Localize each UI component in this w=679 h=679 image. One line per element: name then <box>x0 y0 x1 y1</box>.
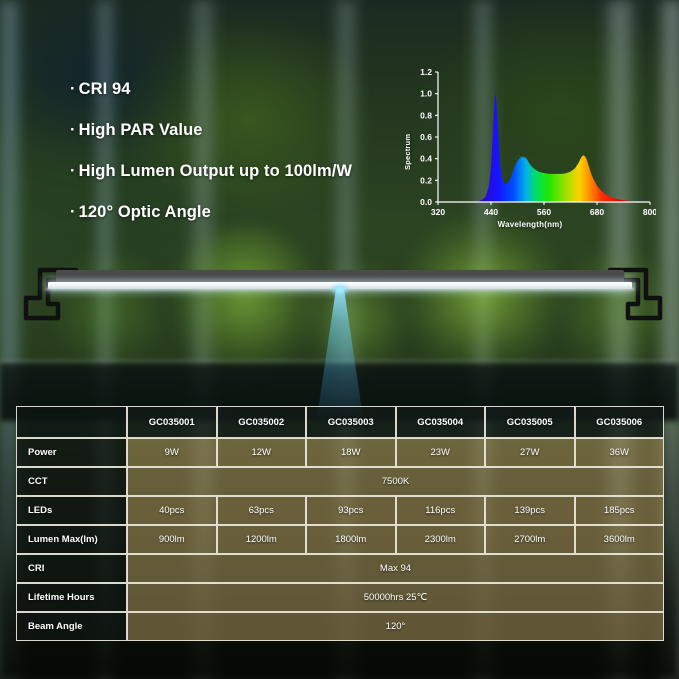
table-row-label: Beam Angle <box>16 612 127 641</box>
svg-text:0.8: 0.8 <box>420 110 432 120</box>
table-header-cell: GC035003 <box>306 406 396 438</box>
specification-table: GC035001GC035002GC035003GC035004GC035005… <box>16 406 664 641</box>
table-cell: 63pcs <box>217 496 307 525</box>
feature-item: ·CRI 94 <box>70 80 400 99</box>
table-header-corner <box>16 406 127 438</box>
table-row-label: CCT <box>16 467 127 496</box>
table-row-label: Lumen Max(lm) <box>16 525 127 554</box>
table-header-cell: GC035005 <box>485 406 575 438</box>
table-cell-merged: 120° <box>127 612 664 641</box>
table-row: CRIMax 94 <box>16 554 664 583</box>
svg-text:800: 800 <box>643 207 656 217</box>
svg-text:560: 560 <box>537 207 551 217</box>
table-row: Lifetime Hours50000hrs 25℃ <box>16 583 664 612</box>
table-row: CCT7500K <box>16 467 664 496</box>
table-cell-merged: 7500K <box>127 467 664 496</box>
table-header-cell: GC035002 <box>217 406 307 438</box>
table-cell: 2300lm <box>396 525 486 554</box>
feature-item: ·High PAR Value <box>70 121 400 140</box>
table-row-label: LEDs <box>16 496 127 525</box>
table-cell-merged: Max 94 <box>127 554 664 583</box>
table-row: Power9W12W18W23W27W36W <box>16 438 664 467</box>
table-cell: 3600lm <box>575 525 665 554</box>
table-cell: 2700lm <box>485 525 575 554</box>
table-cell-merged: 50000hrs 25℃ <box>127 583 664 612</box>
bullet-icon: · <box>70 203 76 221</box>
svg-text:320: 320 <box>431 207 445 217</box>
chart-x-axis-label: Wavelength(nm) <box>404 220 656 229</box>
svg-text:680: 680 <box>590 207 604 217</box>
product-infographic: ·CRI 94 ·High PAR Value ·High Lumen Outp… <box>0 0 679 679</box>
led-grow-light-fixture <box>0 246 679 356</box>
chart-canvas: 0.00.20.40.60.81.01.2320440560680800 <box>404 62 656 222</box>
feature-label: High Lumen Output up to 100lm/W <box>79 162 353 180</box>
table-cell: 12W <box>217 438 307 467</box>
table-cell: 900lm <box>127 525 217 554</box>
svg-text:1.0: 1.0 <box>420 89 432 99</box>
table-cell: 36W <box>575 438 665 467</box>
bullet-icon: · <box>70 121 76 139</box>
table-header-cell: GC035004 <box>396 406 486 438</box>
svg-text:0.0: 0.0 <box>420 197 432 207</box>
table-row: Lumen Max(lm)900lm1200lm1800lm2300lm2700… <box>16 525 664 554</box>
svg-text:0.4: 0.4 <box>420 154 432 164</box>
bullet-icon: · <box>70 162 76 180</box>
svg-text:0.6: 0.6 <box>420 132 432 142</box>
table-cell: 93pcs <box>306 496 396 525</box>
svg-text:0.2: 0.2 <box>420 175 432 185</box>
table-cell: 1800lm <box>306 525 396 554</box>
table-cell: 18W <box>306 438 396 467</box>
feature-label: 120° Optic Angle <box>79 203 211 221</box>
table-cell: 40pcs <box>127 496 217 525</box>
chart-spectrum-area <box>473 94 650 202</box>
spectrum-chart: Spectrum 0.00.20.40.60.81 <box>404 62 656 242</box>
feature-item: ·120° Optic Angle <box>70 203 400 222</box>
table-cell: 1200lm <box>217 525 307 554</box>
table-header-row: GC035001GC035002GC035003GC035004GC035005… <box>16 406 664 438</box>
chart-y-axis-label: Spectrum <box>403 134 412 170</box>
table-cell: 23W <box>396 438 486 467</box>
table-cell: 185pcs <box>575 496 665 525</box>
feature-label: CRI 94 <box>79 80 131 98</box>
light-beam-hotspot <box>331 284 349 295</box>
table-cell: 9W <box>127 438 217 467</box>
table-cell: 116pcs <box>396 496 486 525</box>
table-row: LEDs40pcs63pcs93pcs116pcs139pcs185pcs <box>16 496 664 525</box>
svg-text:440: 440 <box>484 207 498 217</box>
table-cell: 139pcs <box>485 496 575 525</box>
table-header-cell: GC035001 <box>127 406 217 438</box>
feature-list: ·CRI 94 ·High PAR Value ·High Lumen Outp… <box>70 80 400 244</box>
table-row-label: CRI <box>16 554 127 583</box>
feature-label: High PAR Value <box>79 121 203 139</box>
table-row-label: Power <box>16 438 127 467</box>
table-row: Beam Angle120° <box>16 612 664 641</box>
bullet-icon: · <box>70 80 76 98</box>
table-row-label: Lifetime Hours <box>16 583 127 612</box>
table-cell: 27W <box>485 438 575 467</box>
table-header-cell: GC035006 <box>575 406 665 438</box>
svg-text:1.2: 1.2 <box>420 67 432 77</box>
feature-item: ·High Lumen Output up to 100lm/W <box>70 162 400 181</box>
